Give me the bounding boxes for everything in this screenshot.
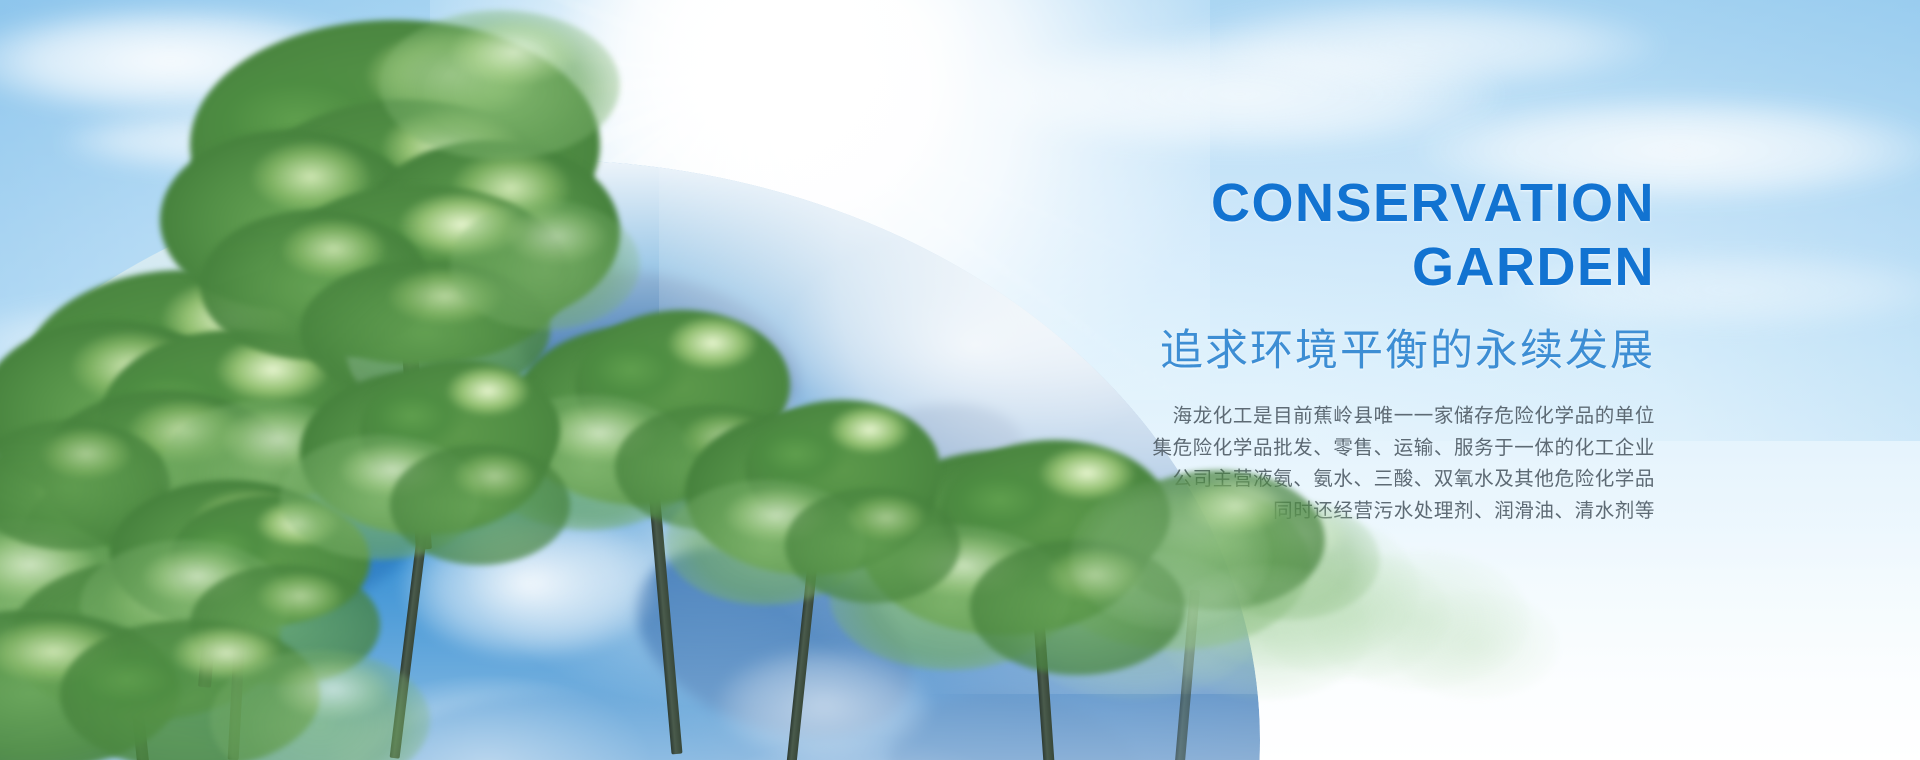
tree — [660, 400, 960, 760]
page-title: CONSERVATION GARDEN — [875, 172, 1655, 299]
hero-banner: CONSERVATION GARDEN 追求环境平衡的永续发展 海龙化工是目前蕉… — [0, 0, 1920, 760]
tree-canopy — [380, 10, 620, 160]
headline-line-2: GARDEN — [875, 236, 1655, 300]
tree-canopy — [1070, 480, 1270, 630]
tree — [0, 600, 400, 760]
tree-canopy — [390, 445, 570, 565]
cloud-wisp — [1180, 0, 1660, 90]
tree-canopy — [785, 488, 960, 603]
headline-line-1: CONSERVATION — [1211, 173, 1655, 233]
hero-tagline: 追求环境平衡的永续发展 — [875, 325, 1655, 379]
description-line: 海龙化工是目前蕉岭县唯一一家储存危险化学品的单位 — [875, 401, 1655, 433]
